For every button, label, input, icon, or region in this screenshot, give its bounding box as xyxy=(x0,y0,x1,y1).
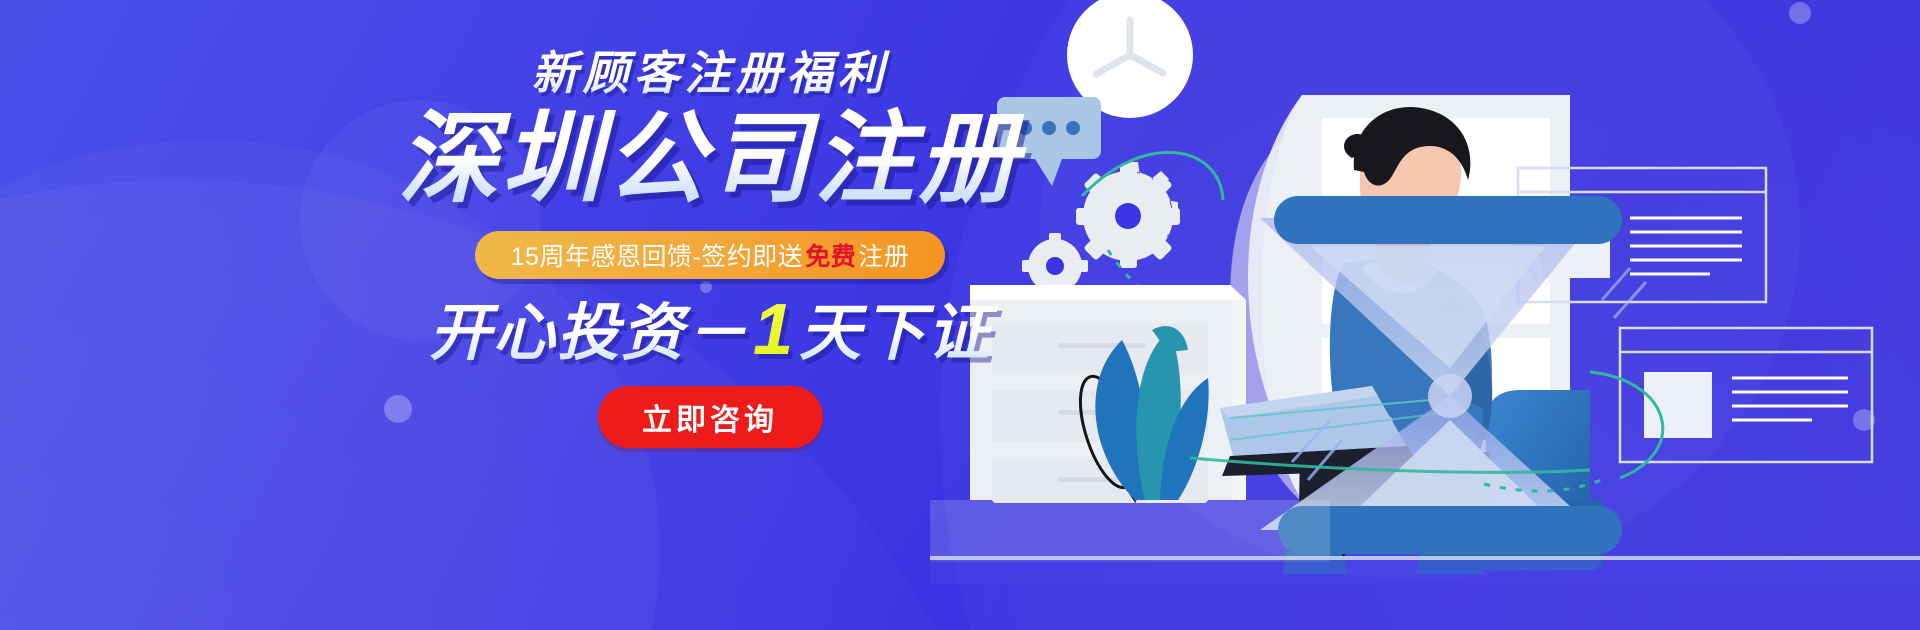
tagline-number: 1 xyxy=(749,290,799,370)
promo-banner: 新顾客注册福利 深圳公司注册 15周年感恩回馈-签约即送 免费 注册 开心投资－… xyxy=(0,0,1920,630)
consult-now-button[interactable]: 立即咨询 xyxy=(598,386,823,448)
promo-badge-prefix: 15周年感恩回馈-签约即送 xyxy=(511,237,804,273)
eyebrow-text: 新顾客注册福利 xyxy=(330,48,1090,99)
tagline-after: 天下证 xyxy=(799,299,991,368)
promo-badge-highlight: 免费 xyxy=(803,237,858,273)
copy-block: 新顾客注册福利 深圳公司注册 15周年感恩回馈-签约即送 免费 注册 开心投资－… xyxy=(330,48,1090,448)
promo-badge-suffix: 注册 xyxy=(858,237,909,273)
page-title: 深圳公司注册 xyxy=(330,105,1090,213)
promo-badge: 15周年感恩回馈-签约即送 免费 注册 xyxy=(475,231,945,279)
document-card-bottom xyxy=(1620,328,1872,462)
tagline-before: 开心投资－ xyxy=(429,299,749,368)
tagline: 开心投资－1天下证 xyxy=(330,291,1090,370)
